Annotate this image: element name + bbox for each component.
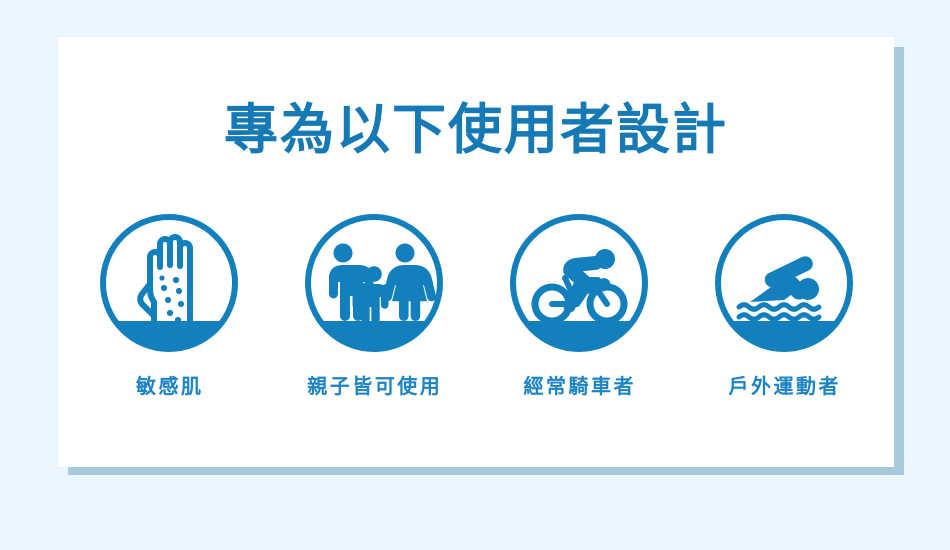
feature-list: 敏感肌 — [58, 212, 894, 396]
content-card: 專為以下使用者設計 — [58, 37, 894, 467]
feature-label: 敏感肌 — [134, 376, 204, 396]
hand-sensitive-skin-icon — [98, 212, 240, 354]
feature-item-outdoor-sports[interactable]: 戶外運動者 — [681, 212, 886, 396]
feature-label: 親子皆可使用 — [305, 376, 443, 396]
feature-item-frequent-cyclist[interactable]: 經常騎車者 — [476, 212, 681, 396]
page-title: 專為以下使用者設計 — [58, 103, 894, 157]
feature-label: 經常騎車者 — [521, 376, 636, 396]
swimmer-outdoor-sports-icon — [713, 212, 855, 354]
feature-label: 戶外運動者 — [726, 376, 841, 396]
feature-item-parent-and-child[interactable]: 親子皆可使用 — [271, 212, 476, 396]
feature-item-sensitive-skin[interactable]: 敏感肌 — [66, 212, 271, 396]
poster-canvas: 專為以下使用者設計 — [0, 0, 950, 550]
cyclist-icon — [508, 212, 650, 354]
family-parent-child-icon — [303, 212, 445, 354]
